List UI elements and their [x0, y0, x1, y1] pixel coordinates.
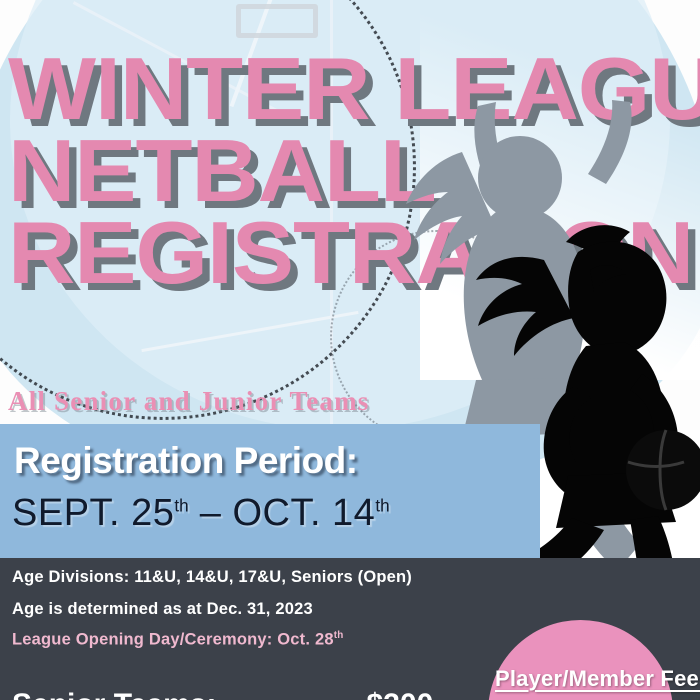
opening-day-suffix: th — [334, 630, 344, 641]
age-determination-text: Age is determined as at Dec. 31, 2023 — [12, 600, 313, 619]
poster-subheadline: All Senior and Junior Teams — [8, 386, 370, 417]
registration-period-dates: SEPT. 25th – OCT. 14th — [12, 492, 390, 535]
registration-start-suffix: th — [174, 496, 188, 515]
fees-row-label: Senior Teams: — [12, 688, 217, 700]
registration-period-label: Registration Period: — [14, 440, 358, 482]
age-divisions-text: Age Divisions: 11&U, 14&U, 17&U, Seniors… — [12, 568, 412, 587]
netball-registration-poster: WINTER LEAGUE NETBALL REGISTRATION All S… — [0, 0, 700, 700]
opening-day-text: League Opening Day/Ceremony: Oct. 28th — [12, 630, 343, 650]
player-member-fees-heading: Player/Member Fees — [495, 666, 700, 692]
fees-row-senior-teams: Senior Teams:$300 — [12, 688, 433, 700]
registration-start-date: SEPT. 25 — [12, 492, 174, 534]
fees-row-amount: $300 — [367, 688, 434, 700]
registration-end-suffix: th — [375, 496, 389, 515]
registration-end-date: OCT. 14 — [232, 492, 375, 534]
opening-day-label: League Opening Day/Ceremony: Oct. 28 — [12, 631, 334, 649]
registration-date-dash: – — [189, 492, 233, 534]
